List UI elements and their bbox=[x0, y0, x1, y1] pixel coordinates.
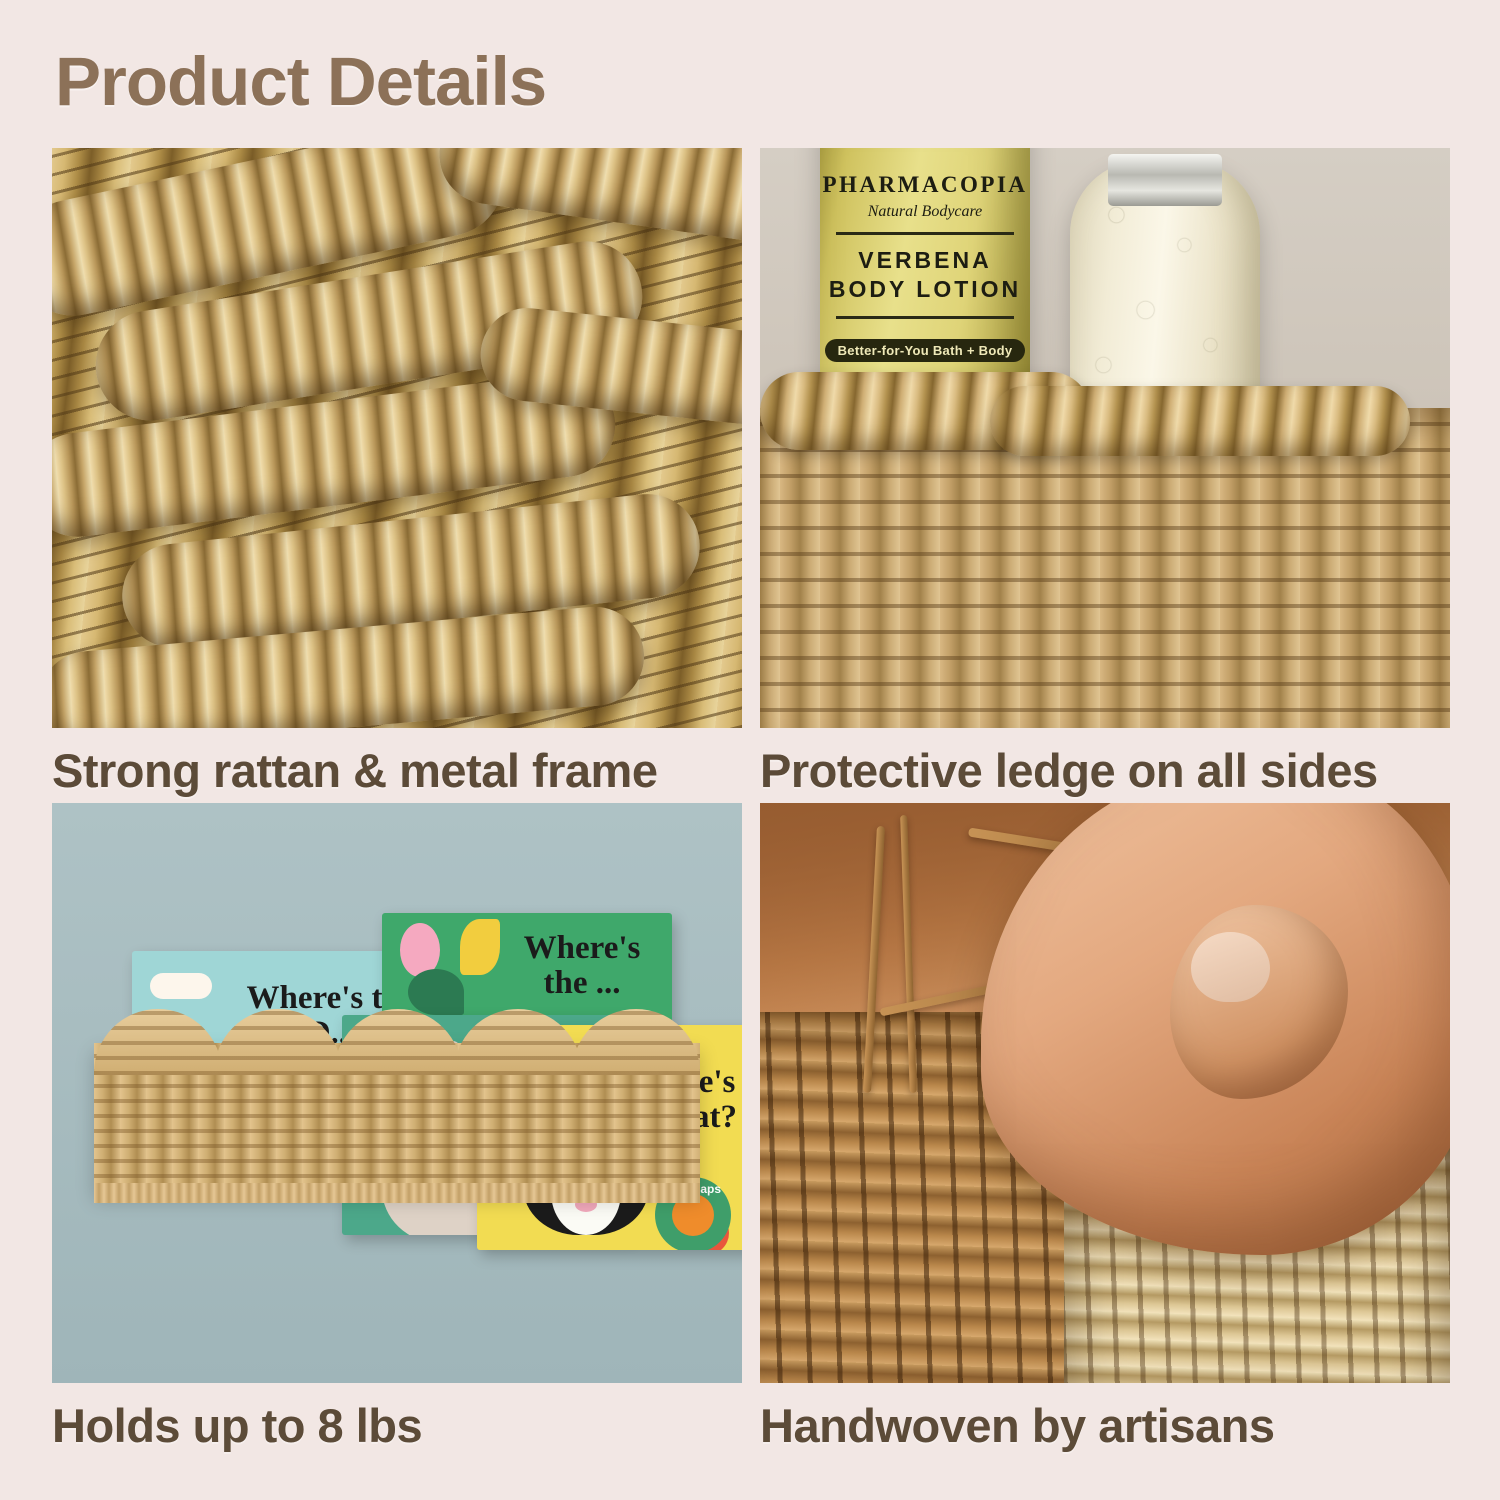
scalloped-wall-basket bbox=[94, 1043, 700, 1193]
panel-protective-ledge-image: PHARMACOPIA Natural Bodycare VERBENA BOD… bbox=[760, 148, 1450, 728]
caption-handwoven: Handwoven by artisans bbox=[760, 1383, 1450, 1458]
thumbnail bbox=[1191, 932, 1270, 1002]
rattan-basket-body bbox=[760, 408, 1450, 728]
lotion-badge: Better-for-You Bath + Body bbox=[825, 339, 1026, 362]
books-in-wall-basket-scene: Where's the D... Where's the ... Wher bbox=[52, 803, 742, 1383]
thumb bbox=[1170, 905, 1349, 1100]
page-title: Product Details bbox=[55, 42, 546, 121]
lotion-tagline: Natural Bodycare bbox=[820, 203, 1030, 221]
product-details-grid: PHARMACOPIA Natural Bodycare VERBENA BOD… bbox=[52, 148, 1450, 1458]
artisan-hand bbox=[981, 803, 1450, 1255]
lotion-divider-bottom bbox=[836, 316, 1014, 319]
rattan-macro-texture bbox=[52, 148, 742, 728]
protective-ledge-right bbox=[990, 386, 1410, 456]
caption-weight-capacity: Holds up to 8 lbs bbox=[52, 1383, 742, 1458]
caption-rattan-metal-frame: Strong rattan & metal frame bbox=[52, 728, 742, 803]
hand-weaving-scene bbox=[760, 803, 1450, 1383]
floral-pattern bbox=[1084, 170, 1246, 420]
panel-handwoven-image bbox=[760, 803, 1450, 1383]
lotion-name-line2: BODY LOTION bbox=[820, 275, 1030, 304]
caption-protective-ledge: Protective ledge on all sides bbox=[760, 728, 1450, 803]
basket-bottom-rim bbox=[94, 1183, 700, 1203]
lotion-divider-top bbox=[836, 232, 1014, 235]
lotion-name-line1: VERBENA bbox=[820, 246, 1030, 275]
basket-with-bottles-scene: PHARMACOPIA Natural Bodycare VERBENA BOD… bbox=[760, 148, 1450, 728]
lotion-brand: PHARMACOPIA bbox=[820, 172, 1030, 198]
panel-weight-capacity-image: Where's the D... Where's the ... Wher bbox=[52, 803, 742, 1383]
book-title-fox: Where's the ... bbox=[502, 931, 662, 1001]
panel-rattan-metal-frame-image bbox=[52, 148, 742, 728]
